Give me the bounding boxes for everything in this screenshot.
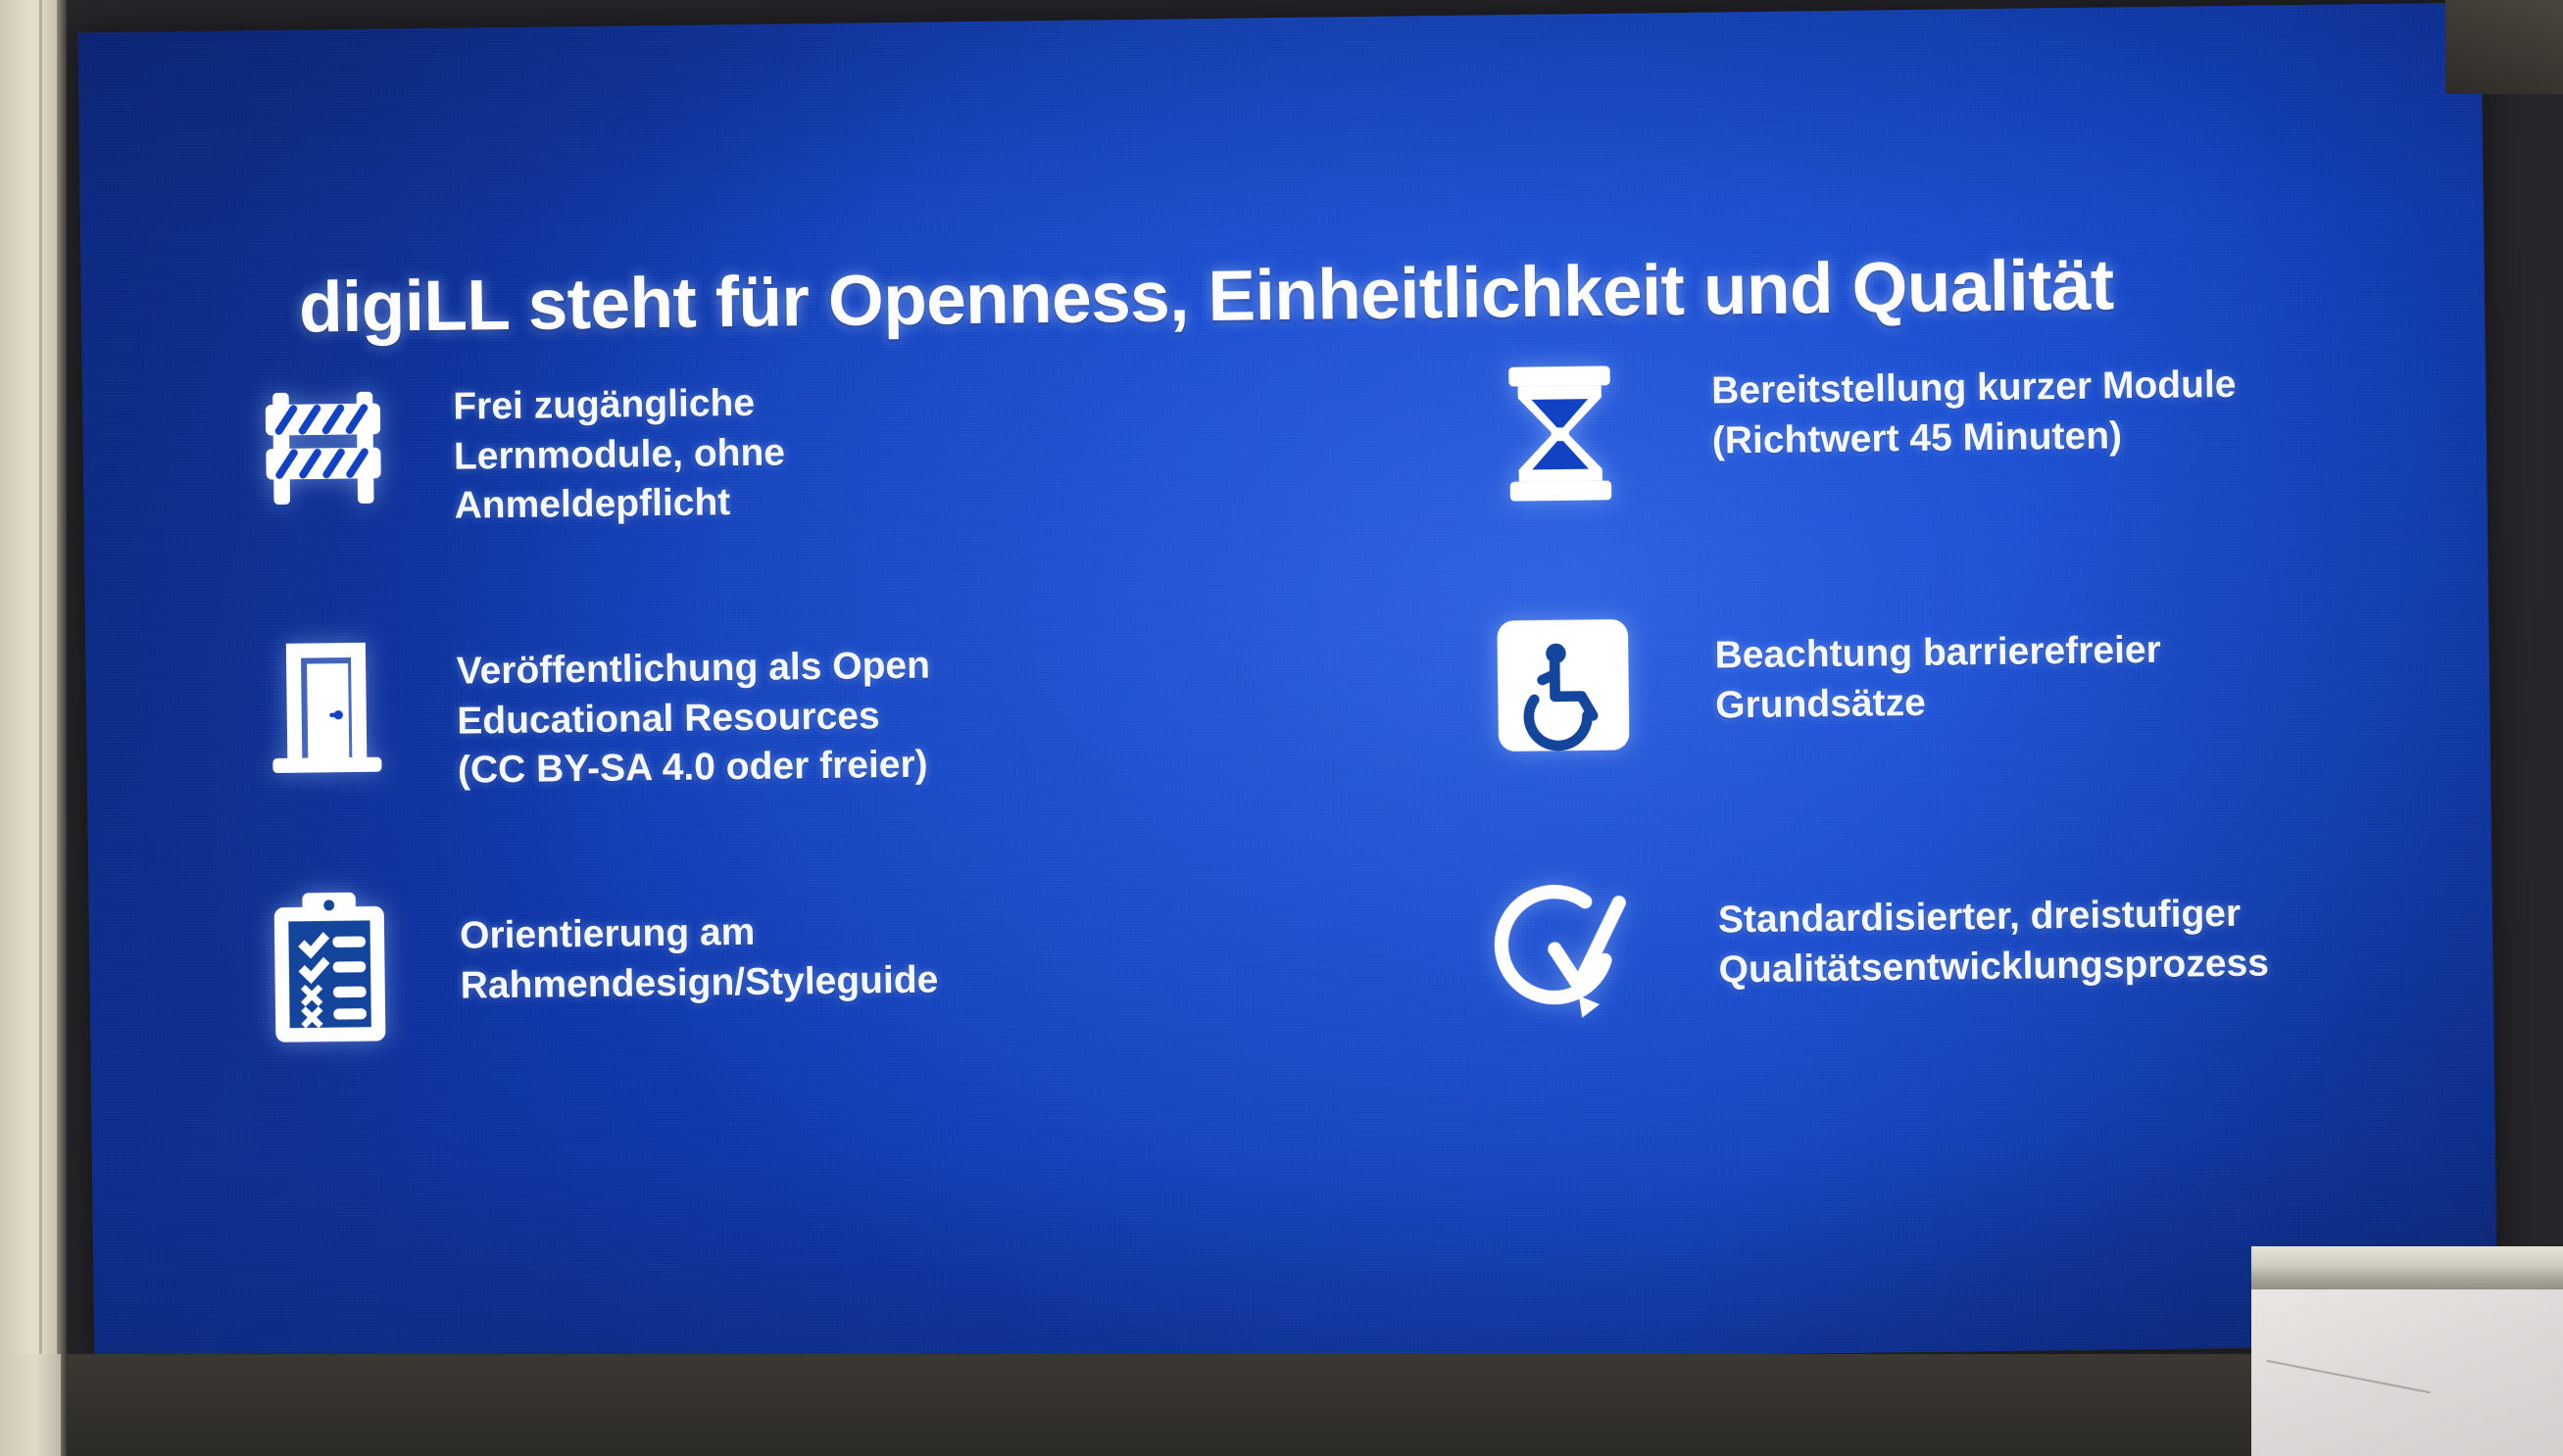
- feature-item-qualitaetsentwicklungsprozess: Standardisierter, dreistufiger Qualitäts…: [1366, 861, 2443, 1132]
- projected-slide: digiLL steht für Openness, Einheitlichke…: [77, 3, 2497, 1376]
- wall-left-edge: [57, 0, 67, 1456]
- feature-item-bereitstellung-kurzer-module: Bereitstellung kurzer Module (Richtwert …: [1360, 348, 2438, 618]
- slide-content: digiLL steht für Openness, Einheitlichke…: [77, 3, 2497, 1376]
- feature-item-veroeffentlichung-als-oer: Veröffentlichung als Open Educational Re…: [232, 619, 1309, 890]
- feature-item-frei-zugaengliche-lernmodule: Frei zugängliche Lernmodule, ohne Anmeld…: [229, 363, 1306, 633]
- slide-title: digiLL steht für Openness, Einheitlichke…: [299, 247, 2319, 345]
- cycle-checkmark-icon: [1472, 871, 1660, 1055]
- hourglass-icon: [1466, 358, 1654, 542]
- feature-item-beachtung-barrierefreier-grundsaetze: Beachtung barrierefreier Grundsätze: [1363, 605, 2440, 875]
- flipchart-crease: [2266, 1360, 2430, 1393]
- wheelchair-accessibility-icon: [1469, 614, 1657, 799]
- feature-item-label: Beachtung barrierefreier Grundsätze: [1655, 605, 2439, 731]
- ceiling-corner: [2445, 0, 2563, 94]
- below-screen-shadow: [0, 1354, 2563, 1456]
- feature-item-label: Frei zugängliche Lernmodule, ohne Anmeld…: [416, 363, 1306, 532]
- clipboard-checklist-icon: [235, 887, 423, 1071]
- flipchart-paper: [2251, 1289, 2563, 1456]
- wall-bottom-left: [0, 1354, 61, 1456]
- photo-scene: digiLL steht für Openness, Einheitlichke…: [0, 0, 2563, 1456]
- feature-item-orientierung-am-rahmendesign: Orientierung am Rahmendesign/Styleguide: [235, 876, 1312, 1146]
- road-barrier-icon: [229, 373, 418, 558]
- flipchart-whiteboard: [2251, 1246, 2563, 1456]
- flipchart-rail: [2251, 1246, 2563, 1291]
- feature-item-label: Veröffentlichung als Open Educational Re…: [419, 619, 1308, 797]
- feature-item-label: Standardisierter, dreistufiger Qualitäts…: [1658, 861, 2442, 995]
- feature-item-label: Orientierung am Rahmendesign/Styleguide: [421, 876, 1311, 1012]
- wall-seam: [39, 0, 42, 1456]
- feature-grid: Frei zugängliche Lernmodule, ohne Anmeld…: [229, 348, 2444, 1145]
- feature-item-label: Bereitstellung kurzer Module (Richtwert …: [1652, 348, 2436, 466]
- wall-left-strip: [0, 0, 57, 1456]
- open-door-icon: [232, 630, 420, 814]
